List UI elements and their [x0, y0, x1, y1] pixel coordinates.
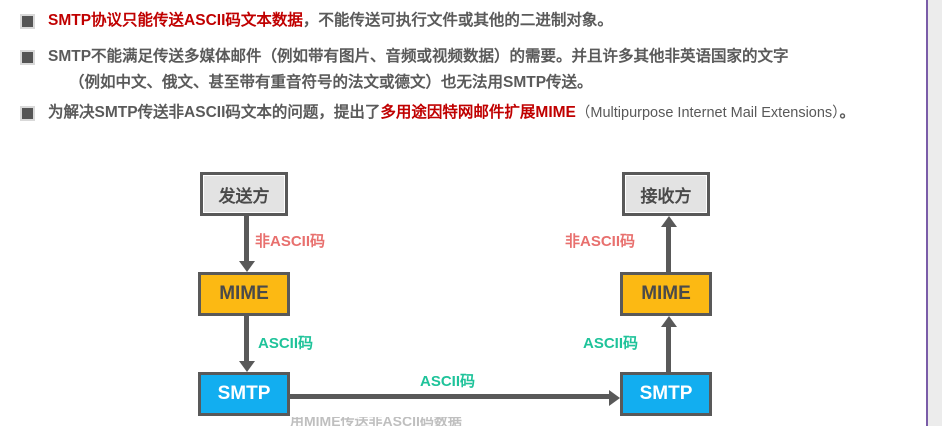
- arrow-shaft: [244, 216, 249, 261]
- bullet-1-highlight: SMTP协议只能传送ASCII码文本数据: [48, 12, 303, 29]
- bullet-square-icon: [20, 14, 35, 29]
- bullet-item-1: SMTP协议只能传送ASCII码文本数据，不能传送可执行文件或其他的二进制对象。: [0, 8, 613, 34]
- diagram-caption-clipped: 用MIME传送非ASCII码数据: [290, 417, 640, 426]
- node-smtp-right: SMTP: [620, 372, 712, 416]
- bullet-1-text: SMTP协议只能传送ASCII码文本数据，不能传送可执行文件或其他的二进制对象。: [48, 8, 613, 34]
- bullet-square-icon: [20, 106, 35, 121]
- slide-canvas: SMTP协议只能传送ASCII码文本数据，不能传送可执行文件或其他的二进制对象。…: [0, 0, 930, 426]
- arrow-head: [239, 261, 255, 272]
- label-non-ascii-right: 非ASCII码: [565, 230, 635, 251]
- arrow-head: [239, 361, 255, 372]
- bullet-3-expansion: （Multipurpose Internet Mail Extensions）: [576, 105, 840, 121]
- arrow-shaft: [290, 394, 609, 399]
- bullet-2-line-2: （例如中文、俄文、甚至带有重音符号的法文或德文）也无法用SMTP传送。: [48, 70, 789, 96]
- bullet-3-highlight: 多用途因特网邮件扩展MIME: [380, 104, 575, 121]
- label-non-ascii-left: 非ASCII码: [255, 230, 325, 251]
- node-sender: 发送方: [200, 172, 288, 216]
- bullet-3-text: 为解决SMTP传送非ASCII码文本的问题，提出了多用途因特网邮件扩展MIME（…: [48, 100, 855, 126]
- mime-flow-diagram: 发送方 接收方 MIME MIME SMTP SMTP 非ASCII码 非ASC…: [0, 150, 926, 426]
- label-ascii-right: ASCII码: [583, 332, 638, 353]
- bullet-item-3: 为解决SMTP传送非ASCII码文本的问题，提出了多用途因特网邮件扩展MIME（…: [0, 100, 855, 126]
- arrow-shaft: [666, 227, 671, 272]
- node-mime-right: MIME: [620, 272, 712, 316]
- label-ascii-middle: ASCII码: [420, 370, 475, 391]
- label-ascii-left: ASCII码: [258, 332, 313, 353]
- bullet-item-2: SMTP不能满足传送多媒体邮件（例如带有图片、音频或视频数据）的需要。并且许多其…: [0, 44, 789, 96]
- node-receiver: 接收方: [622, 172, 710, 216]
- arrow-head: [661, 216, 677, 227]
- arrow-head: [609, 390, 620, 406]
- arrow-smtp-to-smtp-icon: [290, 390, 620, 403]
- bullet-2-line-1: SMTP不能满足传送多媒体邮件（例如带有图片、音频或视频数据）的需要。并且许多其…: [48, 44, 789, 70]
- bullet-square-icon: [20, 50, 35, 65]
- bullet-3-period: 。: [839, 104, 855, 121]
- node-mime-left: MIME: [198, 272, 290, 316]
- arrow-head: [661, 316, 677, 327]
- arrow-shaft: [244, 316, 249, 361]
- outer-background-strip: [928, 0, 942, 426]
- node-smtp-left: SMTP: [198, 372, 290, 416]
- bullet-1-rest: ，不能传送可执行文件或其他的二进制对象。: [303, 12, 613, 29]
- bullet-3-lead: 为解决SMTP传送非ASCII码文本的问题，提出了: [48, 104, 380, 121]
- arrow-shaft: [666, 327, 671, 372]
